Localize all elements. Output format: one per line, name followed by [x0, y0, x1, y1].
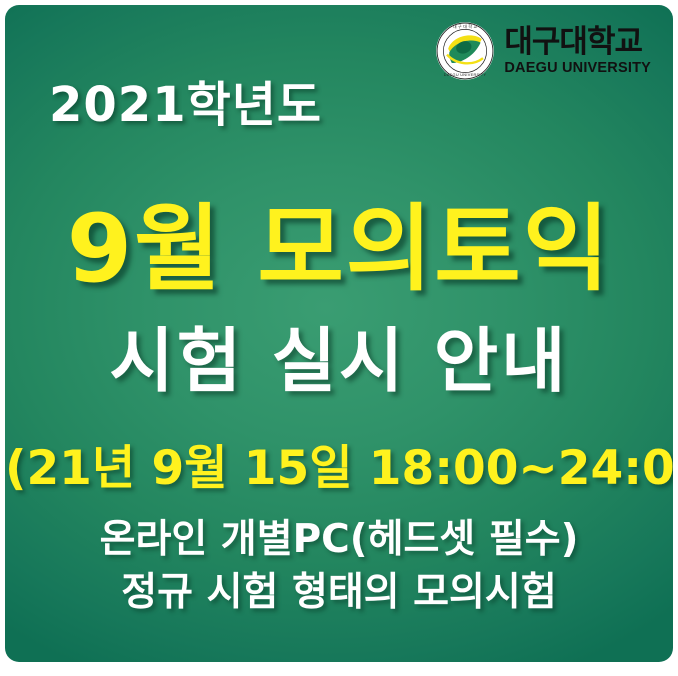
- exam-note-format: 온라인 개별PC(헤드셋 필수): [5, 508, 673, 564]
- exam-note-type: 정규 시험 형태의 모의시험: [5, 561, 673, 617]
- poster-canvas: 대 구 대 학 교 DAEGU UNIVERSITY 대구대학교 DAEGU U…: [5, 5, 673, 662]
- poster-root: 대 구 대 학 교 DAEGU UNIVERSITY 대구대학교 DAEGU U…: [0, 0, 678, 676]
- svg-text:대 구 대 학 교: 대 구 대 학 교: [453, 23, 478, 30]
- exam-datetime: (21년 9월 15일 18:00~24:00): [5, 429, 673, 498]
- academic-year-label: 2021학년도: [5, 65, 673, 135]
- logo-name-korean: 대구대학교: [504, 27, 642, 58]
- poster-title: 9월 모의토익: [5, 173, 673, 309]
- poster-subtitle: 시험 실시 안내: [5, 305, 673, 406]
